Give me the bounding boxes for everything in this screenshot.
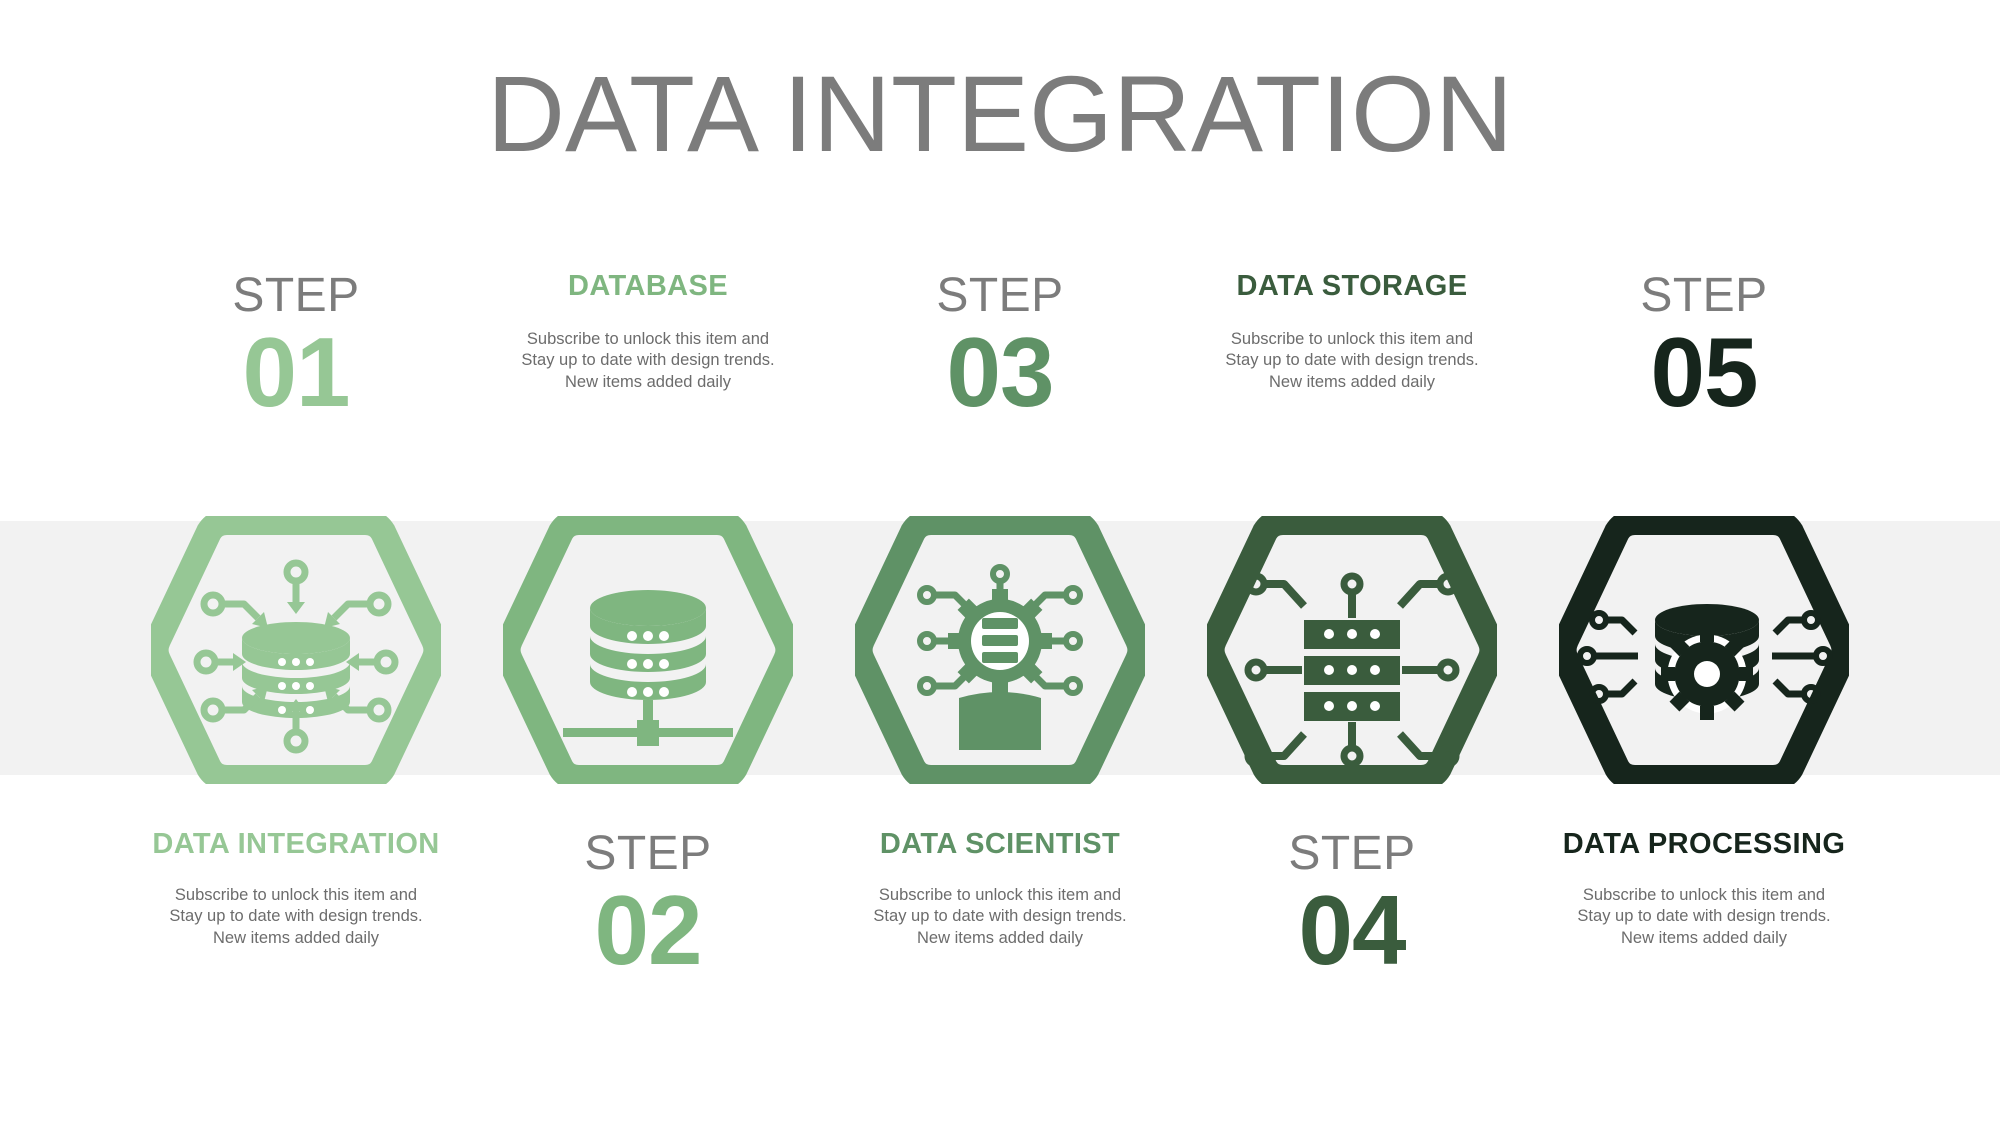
step-column-1: STEP 01 [120, 0, 472, 1127]
step-3-hexagon[interactable] [855, 516, 1145, 784]
infographic-canvas: DATA INTEGRATION STEP 01 [0, 0, 2000, 1127]
step-5-caption-block: DATA PROCESSING Subscribe to unlock this… [1528, 830, 1880, 949]
step-3-caption: DATA SCIENTIST [824, 830, 1176, 859]
step-column-2: DATABASE Subscribe to unlock this item a… [472, 0, 824, 1127]
database-network-inbound-icon [151, 516, 441, 784]
step-2-caption: DATABASE [472, 272, 824, 301]
step-5-step-word: STEP [1528, 272, 1880, 320]
step-2-description: Subscribe to unlock this item and Stay u… [472, 329, 824, 393]
step-1-number: 01 [120, 320, 472, 426]
server-rack-network-icon [1207, 516, 1497, 784]
step-1-caption-block: DATA INTEGRATION Subscribe to unlock thi… [120, 830, 472, 949]
step-column-4: DATA STORAGE Subscribe to unlock this it… [1176, 0, 1528, 1127]
database-gear-network-icon [1559, 516, 1849, 784]
step-2-number-block: STEP 02 [472, 830, 824, 984]
step-1-number-block: STEP 01 [120, 272, 472, 426]
step-3-number: 03 [824, 320, 1176, 426]
step-2-caption-block: DATABASE Subscribe to unlock this item a… [472, 272, 824, 393]
step-2-hexagon[interactable] [503, 516, 793, 784]
step-4-number: 04 [1176, 878, 1528, 984]
step-5-description: Subscribe to unlock this item and Stay u… [1528, 885, 1880, 949]
steps-container: STEP 01 [120, 0, 1880, 1127]
step-4-caption: DATA STORAGE [1176, 272, 1528, 301]
step-column-5: STEP 05 [1528, 0, 1880, 1127]
step-5-number: 05 [1528, 320, 1880, 426]
step-1-hexagon[interactable] [151, 516, 441, 784]
data-scientist-gear-icon [855, 516, 1145, 784]
step-2-step-word: STEP [472, 830, 824, 878]
step-3-description: Subscribe to unlock this item and Stay u… [824, 885, 1176, 949]
step-4-hexagon[interactable] [1207, 516, 1497, 784]
database-stack-icon [503, 516, 793, 784]
step-3-caption-block: DATA SCIENTIST Subscribe to unlock this … [824, 830, 1176, 949]
step-1-caption: DATA INTEGRATION [120, 830, 472, 859]
step-3-step-word: STEP [824, 272, 1176, 320]
step-5-hexagon[interactable] [1559, 516, 1849, 784]
step-4-step-word: STEP [1176, 830, 1528, 878]
step-4-number-block: STEP 04 [1176, 830, 1528, 984]
step-5-number-block: STEP 05 [1528, 272, 1880, 426]
step-1-description: Subscribe to unlock this item and Stay u… [120, 885, 472, 949]
step-column-3: STEP 03 [824, 0, 1176, 1127]
step-5-caption: DATA PROCESSING [1528, 830, 1880, 859]
step-1-step-word: STEP [120, 272, 472, 320]
step-2-number: 02 [472, 878, 824, 984]
step-4-caption-block: DATA STORAGE Subscribe to unlock this it… [1176, 272, 1528, 393]
step-4-description: Subscribe to unlock this item and Stay u… [1176, 329, 1528, 393]
step-3-number-block: STEP 03 [824, 272, 1176, 426]
